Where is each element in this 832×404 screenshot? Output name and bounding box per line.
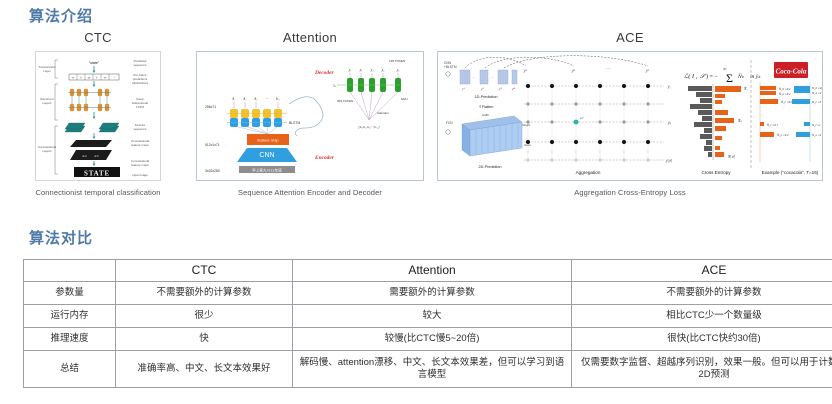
svg-text:N̄_l =0.1: N̄_l =0.1: [766, 123, 778, 127]
svg-text:Aggregation: Aggregation: [576, 170, 601, 175]
svg-text:···: ···: [92, 106, 95, 110]
svg-text:FCN: FCN: [446, 121, 453, 125]
row-metric-label: 总结: [24, 351, 116, 388]
figure-caption-ctc: Connectionist temporal classification: [8, 188, 188, 197]
table-row: 运行内存 很少 较大 相比CTC少一个数量级: [24, 305, 832, 328]
figure-column-attention: Attention 256x71 512x1x71 3x32x280 早上東大川…: [190, 30, 430, 197]
row-metric-label: 推理速度: [24, 328, 116, 351]
svg-text:512x1x71: 512x1x71: [205, 143, 220, 147]
svg-text:Coca-Cola: Coca-Cola: [776, 68, 807, 76]
svg-text:feature maps: feature maps: [131, 143, 149, 147]
svg-text:-t-: -t-: [80, 75, 83, 79]
svg-text:LSTM: LSTM: [136, 105, 145, 109]
svg-text:Decoder: Decoder: [314, 70, 334, 76]
svg-text:AU: AU: [82, 154, 87, 158]
row-value-ace: 很快(比CTC快约30倍): [572, 328, 832, 351]
header-cell-attention: Attention: [293, 260, 572, 282]
table-header-row: CTC Attention ACE: [24, 260, 832, 282]
row-value-attention: 较慢(比CTC慢5~20倍): [293, 328, 572, 351]
svg-text:y¹: y¹: [461, 87, 465, 91]
row-value-ctc: 很少: [116, 305, 293, 328]
figure-caption-ace: Aggregation Cross-Entropy Loss: [432, 188, 828, 197]
svg-text:--: --: [113, 76, 115, 79]
row-value-ace: 相比CTC少一个数量级: [572, 305, 832, 328]
svg-text:-: -: [473, 75, 474, 79]
svg-text:t-: t-: [96, 75, 98, 79]
svg-text:width: width: [482, 113, 489, 117]
figure-label-ctc: CTC: [8, 30, 188, 45]
row-value-attention: 需要额外的计算参数: [293, 282, 572, 305]
svg-text:早上東大川12年底: 早上東大川12年底: [252, 167, 282, 172]
row-value-ctc: 不需要额外的计算参数: [116, 282, 293, 305]
svg-text:feature maps: feature maps: [131, 163, 149, 167]
svg-text:N_b =10 − 8: N_b =10 − 8: [811, 86, 822, 90]
svg-text:ȳᵀ: ȳᵀ: [645, 69, 650, 73]
row-value-attention: 较大: [293, 305, 572, 328]
section-title-algorithm-comparison: 算法对比: [29, 227, 93, 248]
svg-text:Layers: Layers: [42, 149, 52, 153]
svg-text:⇧Flatten: ⇧Flatten: [479, 104, 494, 109]
header-cell-ace: ACE: [572, 260, 832, 282]
svg-text:height: height: [522, 123, 530, 127]
svg-text:Cross Entropy: Cross Entropy: [701, 170, 731, 175]
svg-text:303,TOKEN: 303,TOKEN: [337, 99, 353, 103]
row-metric-label: 参数量: [24, 282, 116, 305]
svg-text:ȳ¹: ȳ¹: [523, 69, 527, 73]
svg-text:···: ···: [266, 97, 269, 101]
header-cell-blank: [24, 260, 116, 282]
row-value-ctc: 快: [116, 328, 293, 351]
figure-image-ace: CNN+BLSTM FCN --: [437, 51, 823, 181]
svg-text:↑: ↑: [647, 150, 649, 154]
svg-text:256x71: 256x71: [205, 105, 216, 109]
figure-caption-attention: Sequence Attention Encoder and Decoder: [190, 188, 430, 197]
svg-text:1D-Prediction: 1D-Prediction: [474, 95, 497, 99]
svg-text:"state": "state": [89, 61, 100, 65]
row-value-attention: 解码慢、attention漂移、中文、长文本效果差，但可以学习到语言模型: [293, 351, 572, 388]
svg-text:feature map: feature map: [257, 138, 279, 143]
svg-text:···: ···: [606, 66, 610, 71]
svg-text:N_c =3: N_c =3: [811, 100, 822, 104]
svg-text:CNN: CNN: [259, 152, 274, 159]
svg-text:N_o =2: N_o =2: [811, 133, 822, 137]
table-row: 总结 准确率高、中文、长文本效果好 解码慢、attention漂移、中文、长文本…: [24, 351, 832, 388]
svg-text:|𝒞|: |𝒞|: [723, 67, 727, 71]
svg-text:···: ···: [92, 126, 95, 130]
svg-text:-: -: [492, 75, 493, 79]
figure-label-ace: ACE: [432, 30, 828, 45]
section-title-algorithm-intro: 算法介绍: [29, 5, 93, 26]
svg-text:N_l =1: N_l =1: [811, 123, 821, 127]
svg-text:N̄ₖ: N̄ₖ: [737, 73, 745, 80]
svg-text:+BLSTM: +BLSTM: [444, 65, 457, 69]
svg-text:Attention: Attention: [377, 111, 389, 115]
figure-image-ctc: TranscriptionLayer RecurrentLayers Convo…: [35, 51, 161, 181]
table-row: 参数量 不需要额外的计算参数 需要额外的计算参数 不需要额外的计算参数: [24, 282, 832, 305]
svg-text:↑: ↑: [551, 150, 553, 154]
row-value-ace: 仅需要数字监督、超越序列识别，效果一般。但可以用于计数或2D预测: [572, 351, 832, 388]
svg-text:N̄_b =0.2: N̄_b =0.2: [778, 87, 791, 91]
figure-image-attention: 256x71 512x1x71 3x32x280 早上東大川12年底 CNN E…: [196, 51, 424, 181]
svg-text:sequence: sequence: [133, 63, 146, 67]
svg-text:Encoder: Encoder: [314, 155, 335, 161]
row-value-ace: 不需要额外的计算参数: [572, 282, 832, 305]
svg-text:ℒ(: ℒ(: [684, 73, 691, 80]
figure-column-ctc: CTC TranscriptionLayer RecurrentLayers C…: [8, 30, 188, 197]
svg-text:Layers: Layers: [42, 101, 52, 105]
svg-text:) = −: ) = −: [706, 73, 718, 80]
svg-text:Example ("cocacola", T=16): Example ("cocacola", T=16): [762, 170, 819, 175]
figure-label-attention: Attention: [190, 30, 430, 45]
svg-text:-e-: -e-: [103, 76, 106, 79]
svg-text:↑: ↑: [527, 150, 529, 154]
svg-text:Input image: Input image: [132, 173, 148, 177]
svg-text:128,TOKEN: 128,TOKEN: [389, 59, 405, 63]
svg-text:h₇₁: h₇₁: [276, 97, 281, 101]
svg-text:2D-Prediction: 2D-Prediction: [478, 165, 501, 169]
svg-text:AU: AU: [94, 154, 99, 158]
svg-text:BLSTM: BLSTM: [289, 121, 300, 125]
svg-text:N̄₁: N̄₁: [743, 86, 748, 91]
svg-text:N̄_o =0.2: N̄_o =0.2: [776, 133, 789, 137]
svg-text:yₖᵗ: yₖᵗ: [579, 116, 584, 120]
svg-text:sequence: sequence: [133, 127, 146, 131]
svg-text:Layer: Layer: [43, 69, 51, 73]
svg-text:(distribution): (distribution): [132, 81, 149, 85]
svg-text:···: ···: [92, 91, 95, 95]
svg-text:Σ: Σ: [726, 71, 733, 85]
svg-text:N̄|𝒞|: N̄|𝒞|: [727, 154, 735, 159]
svg-text:N̄_c =0.3: N̄_c =0.3: [780, 100, 793, 104]
svg-text:GRU: GRU: [401, 97, 408, 101]
svg-text:-s-: -s-: [71, 76, 74, 79]
svg-text:N_a =2: N_a =2: [811, 91, 822, 95]
row-metric-label: 运行内存: [24, 305, 116, 328]
svg-text:N̄ₖ: N̄ₖ: [737, 118, 742, 123]
svg-text:STATE: STATE: [84, 169, 110, 177]
svg-text:↑: ↑: [599, 150, 601, 154]
figure-column-ace: ACE CNN+BLSTM FCN: [432, 30, 828, 197]
svg-text:3x32x280: 3x32x280: [205, 169, 220, 173]
svg-text:↑: ↑: [575, 150, 577, 154]
svg-text:-a-: -a-: [87, 76, 90, 79]
svg-text:ȳₖ: ȳₖ: [667, 121, 672, 125]
table-row: 推理速度 快 较慢(比CTC慢5~20倍) 很快(比CTC快约30倍): [24, 328, 832, 351]
header-cell-ctc: CTC: [116, 260, 293, 282]
svg-text:↑: ↑: [623, 150, 625, 154]
comparison-table: CTC Attention ACE 参数量 不需要额外的计算参数 需要额外的计算…: [23, 259, 832, 388]
svg-text:ȳ|𝒞|: ȳ|𝒞|: [665, 159, 673, 163]
row-value-ctc: 准确率高、中文、长文本效果好: [116, 351, 293, 388]
svg-text:ln ȳₖ: ln ȳₖ: [750, 73, 761, 80]
slide-page: 算法介绍 CTC TranscriptionLayer RecurrentLay…: [0, 0, 832, 404]
svg-text:N̄_a =0.2: N̄_a =0.2: [778, 92, 791, 96]
